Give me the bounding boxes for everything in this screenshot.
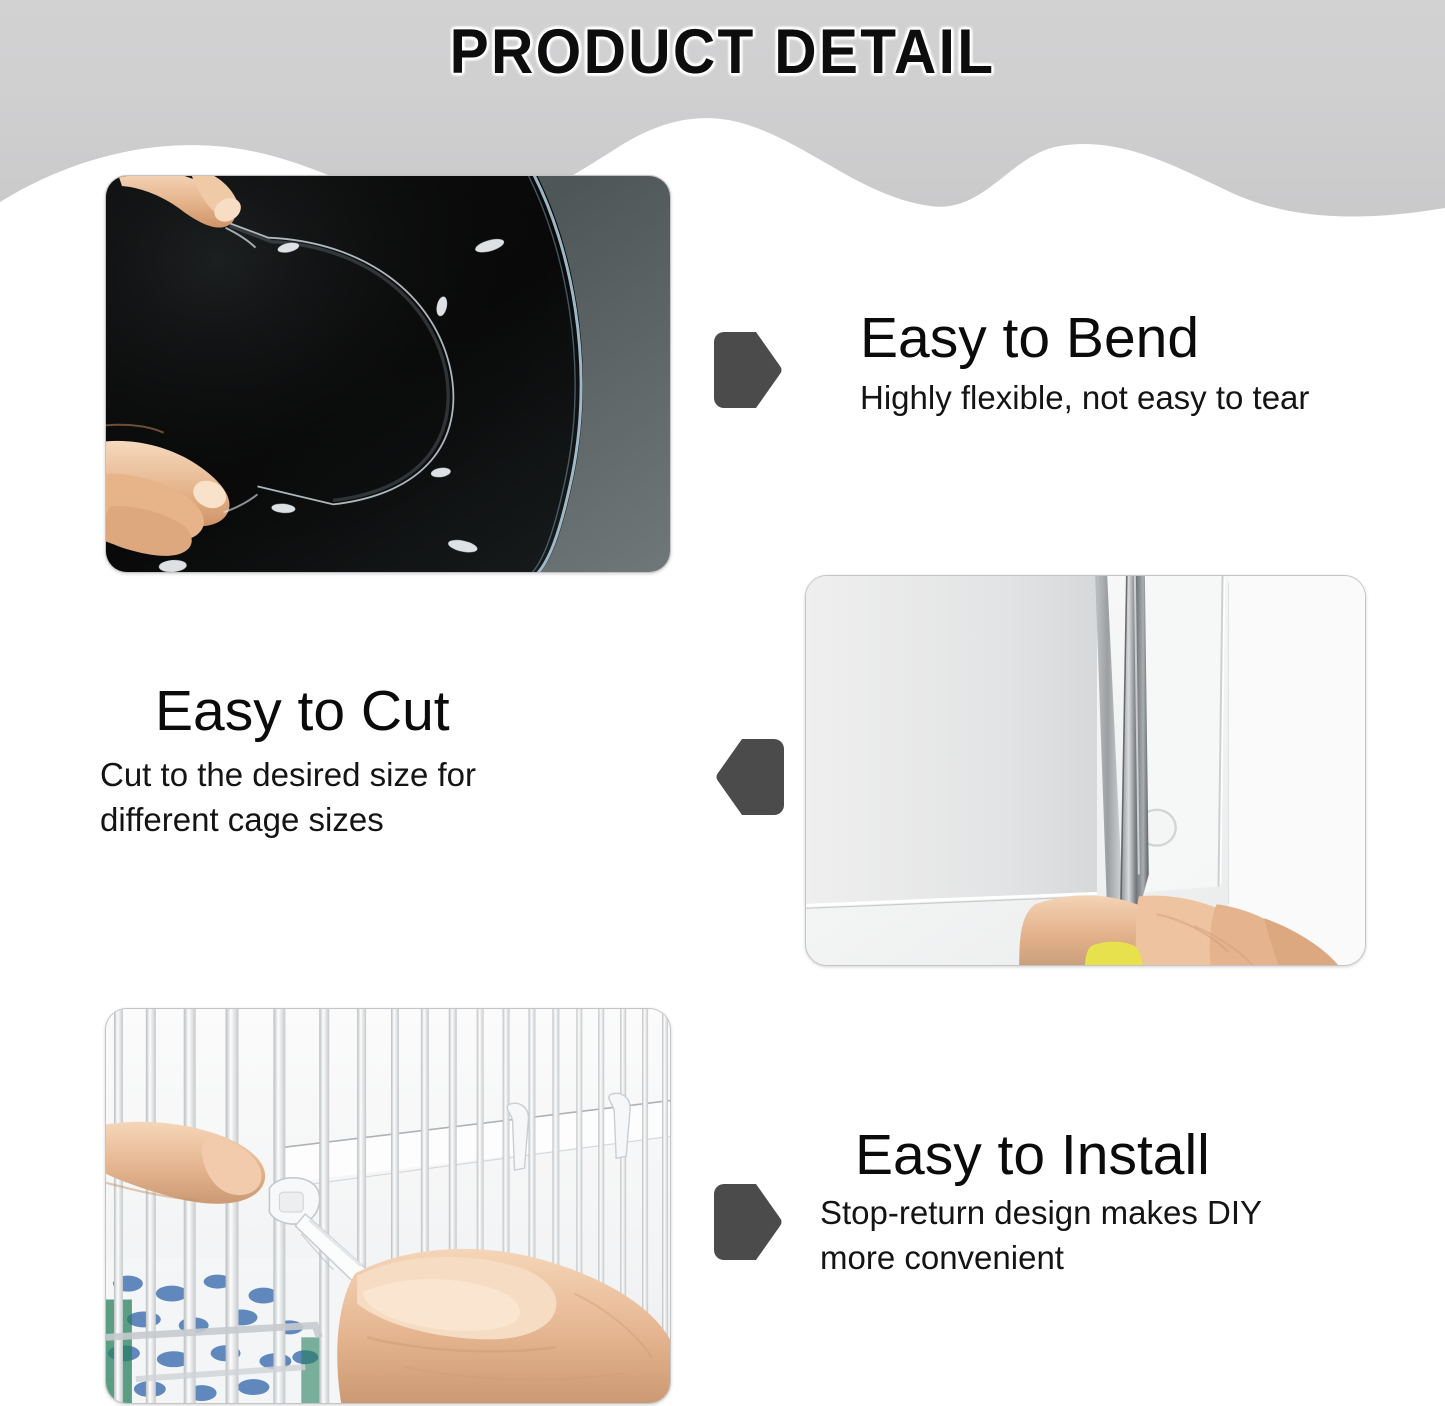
photo-installing-zip-tie-on-cage — [105, 1008, 671, 1404]
feature-subtitle-cut-line-2: different cage sizes — [100, 797, 740, 842]
feature-subtitle-install-line-2: more convenient — [820, 1235, 1262, 1280]
product-detail-infographic: PRODUCT DETAIL — [0, 0, 1445, 1406]
feature-subtitle-install-line-1: Stop-return design makes DIY — [820, 1190, 1262, 1235]
feature-subtitle-bend-line-1: Highly flexible, not easy to tear — [860, 375, 1309, 420]
feature-block-cut: Easy to Cut Cut to the desired size for … — [100, 678, 740, 842]
feature-heading-install: Easy to Install — [820, 1122, 1262, 1188]
feature-block-bend: Easy to Bend Highly flexible, not easy t… — [860, 305, 1309, 420]
arrow-left-pentagon-icon — [712, 735, 790, 819]
feature-block-install: Easy to Install Stop-return design makes… — [820, 1122, 1262, 1280]
feature-heading-cut: Easy to Cut — [100, 678, 740, 744]
arrow-right-pentagon-icon — [708, 1180, 786, 1264]
page-title: PRODUCT DETAIL — [51, 14, 1395, 90]
feature-heading-bend: Easy to Bend — [860, 305, 1309, 371]
arrow-right-pentagon-icon — [708, 328, 786, 412]
feature-subtitle-bend: Highly flexible, not easy to tear — [860, 375, 1309, 420]
photo-scissors-cutting-sheet — [805, 575, 1366, 966]
feature-subtitle-cut-line-1: Cut to the desired size for — [100, 752, 740, 797]
feature-subtitle-install: Stop-return design makes DIY more conven… — [820, 1190, 1262, 1280]
feature-subtitle-cut: Cut to the desired size for different ca… — [100, 752, 740, 842]
photo-hands-bending-flexible-sheet — [105, 175, 671, 573]
